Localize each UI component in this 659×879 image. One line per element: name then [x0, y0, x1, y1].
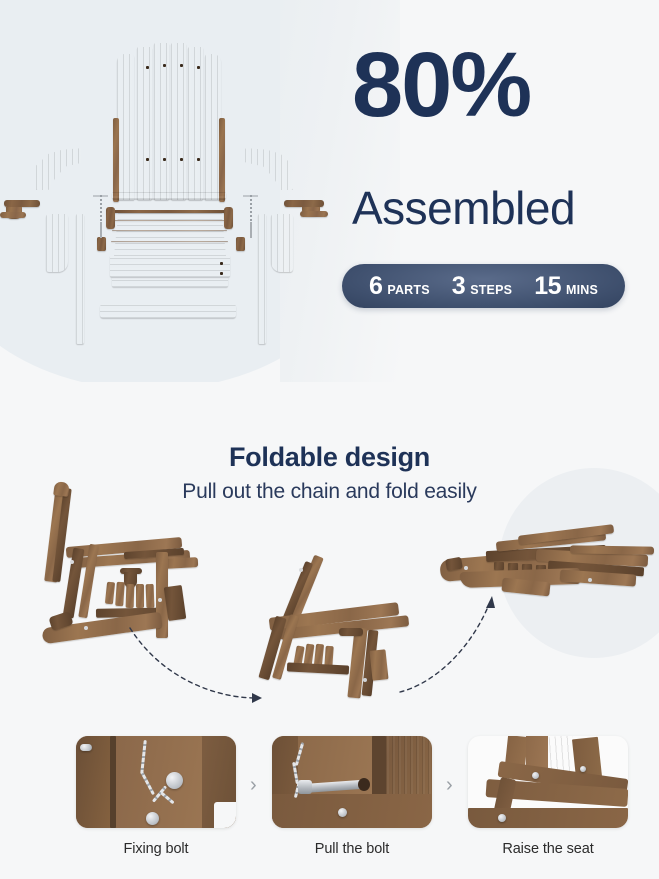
backrest-part — [117, 40, 221, 200]
stat-mins-value: 15 — [534, 272, 561, 301]
stat-parts-unit: PARTS — [387, 283, 429, 297]
stat-steps-value: 3 — [452, 272, 465, 301]
step-caption-fixing-bolt: Fixing bolt — [76, 841, 236, 857]
fold-arrow-2-icon — [398, 592, 508, 697]
step-thumbnail-pull-the-bolt — [272, 736, 432, 828]
step-separator-2-icon: › — [446, 774, 453, 797]
left-spacer-part — [97, 237, 106, 251]
assembled-subtitle: Assembled — [352, 185, 575, 231]
fold-arrow-1-icon — [128, 622, 278, 702]
left-side-panel-part — [46, 214, 68, 272]
step-thumbnail-raise-the-seat — [468, 736, 628, 828]
front-rail-part — [100, 304, 236, 318]
seat-assembly-part — [110, 210, 230, 292]
step-separator-1-icon: › — [250, 774, 257, 797]
right-armrest-part — [245, 148, 293, 190]
left-hardware-tick — [92, 192, 110, 200]
assembly-hero-section: 80% Assembled 6 PARTS 3 STEPS 15 MINS — [0, 0, 659, 382]
right-leg-part — [258, 214, 266, 344]
step-caption-pull-the-bolt: Pull the bolt — [272, 841, 432, 857]
right-bolt-hardware — [250, 222, 252, 238]
back-bottom-rail-part — [112, 192, 226, 199]
step-card-raise-the-seat[interactable]: Raise the seat — [468, 736, 628, 857]
right-side-panel-part — [271, 214, 293, 272]
fold-steps-section: Fixing bolt › Pull the bolt › — [0, 722, 659, 879]
stat-parts-value: 6 — [369, 272, 382, 301]
stat-mins-unit: MINS — [566, 283, 598, 297]
step-thumbnail-fixing-bolt — [76, 736, 236, 828]
assembly-stats-badge: 6 PARTS 3 STEPS 15 MINS — [342, 264, 625, 308]
stat-steps: 3 STEPS — [441, 272, 523, 301]
left-leg-part — [76, 214, 84, 344]
step-caption-raise-the-seat: Raise the seat — [468, 841, 628, 857]
foldable-design-section: Foldable design Pull out the chain and f… — [0, 382, 659, 722]
exploded-parts-diagram — [8, 32, 328, 362]
stat-mins: 15 MINS — [523, 272, 609, 301]
right-spacer-part — [236, 237, 245, 251]
left-bolt-hardware — [100, 222, 102, 238]
page-title: 80% — [352, 42, 530, 129]
left-cupholder-part — [4, 198, 40, 224]
stat-parts: 6 PARTS — [358, 272, 441, 301]
left-armrest-part — [36, 148, 84, 190]
section-title: Foldable design — [0, 442, 659, 473]
step-card-pull-the-bolt[interactable]: Pull the bolt — [272, 736, 432, 857]
stat-steps-unit: STEPS — [470, 283, 512, 297]
step-card-fixing-bolt[interactable]: Fixing bolt — [76, 736, 236, 857]
right-hardware-tick — [242, 192, 260, 200]
